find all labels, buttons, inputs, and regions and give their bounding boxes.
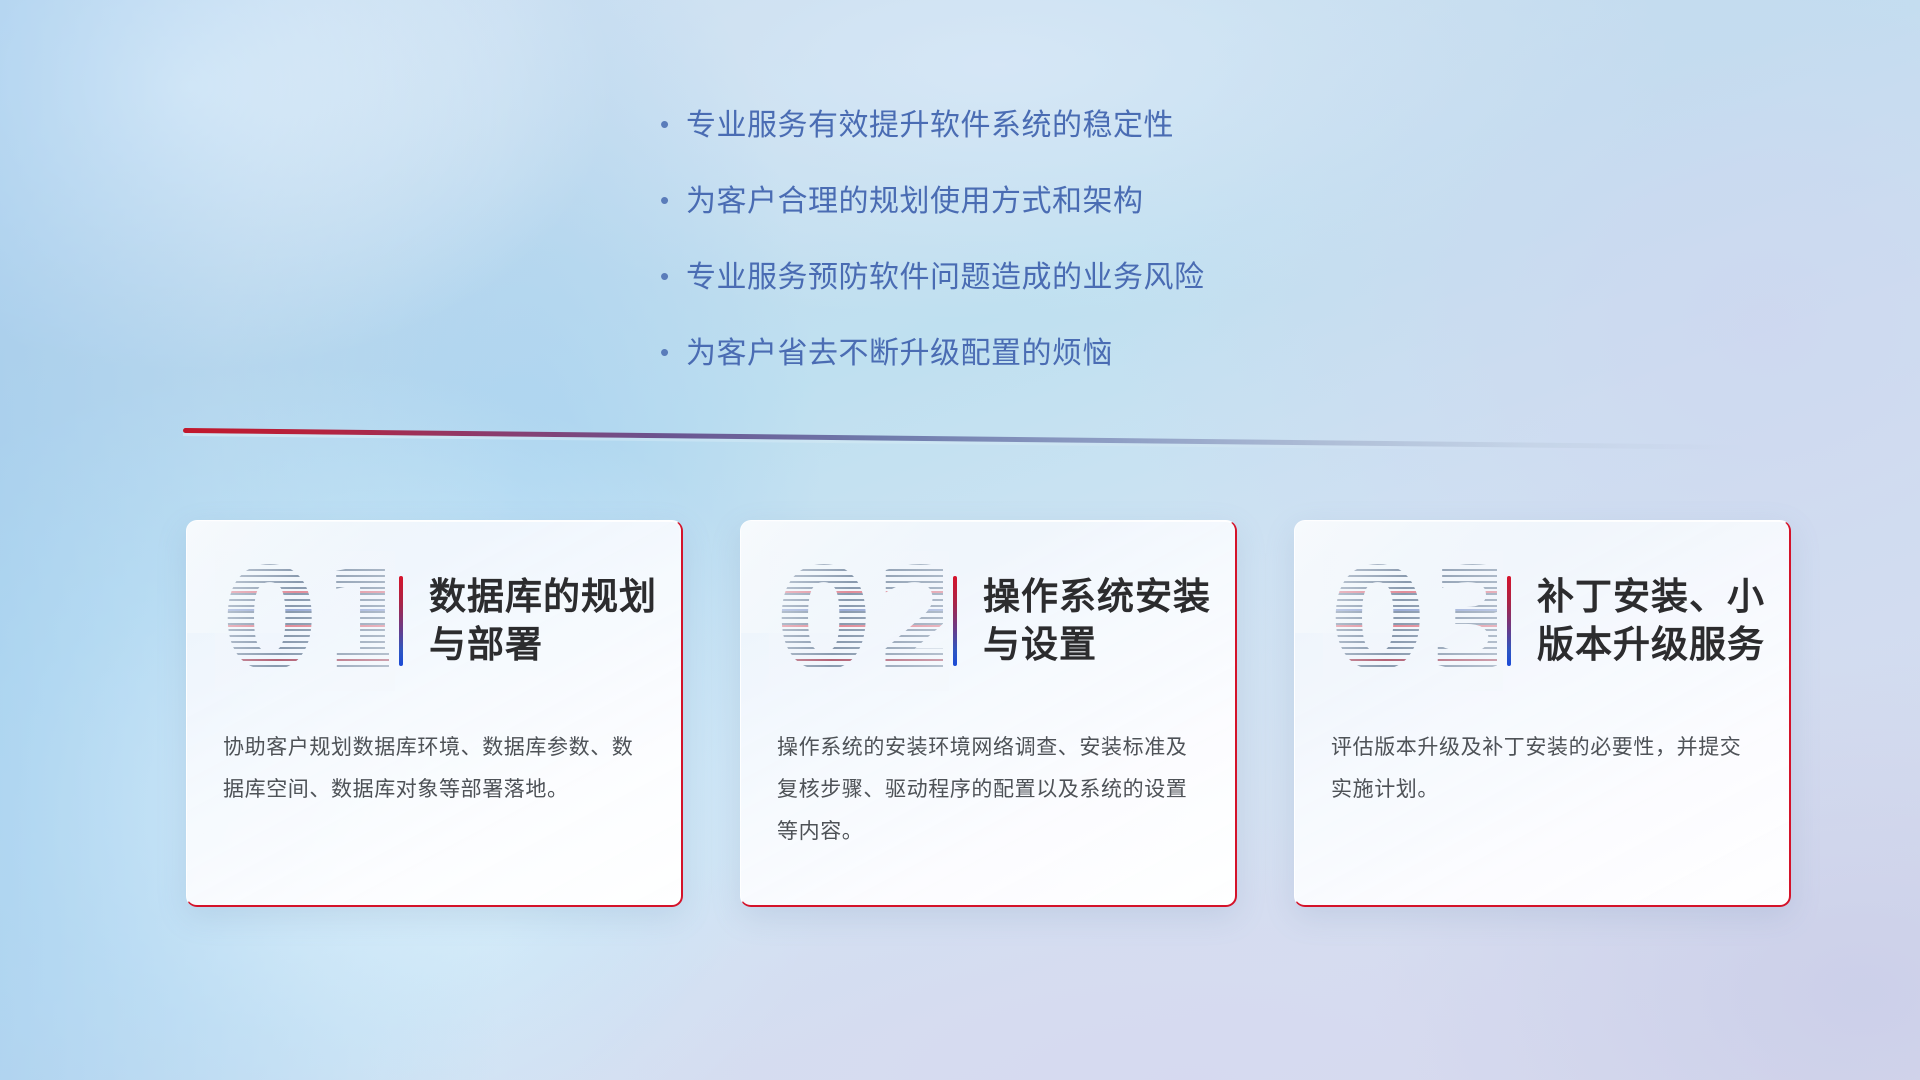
- card-header: 03 03 补丁安装、小版本升级服务: [1295, 521, 1789, 721]
- list-item: • 专业服务预防软件问题造成的业务风险: [660, 252, 1205, 296]
- card-description: 操作系统的安装环境网络调查、安装标准及复核步骤、驱动程序的配置以及系统的设置等内…: [741, 727, 1235, 853]
- card-number-watermark: 03 03: [1329, 557, 1497, 685]
- bullet-dot-icon: •: [660, 187, 686, 213]
- service-card-03[interactable]: 03 03 补丁安装、小版本升级服务 评估版本升级及补丁安装的必要性，并提交实施…: [1294, 520, 1791, 907]
- card-description: 评估版本升级及补丁安装的必要性，并提交实施计划。: [1295, 727, 1789, 811]
- card-number-tint: 03: [1329, 557, 1497, 685]
- benefits-bullet-list: • 专业服务有效提升软件系统的稳定性 • 为客户合理的规划使用方式和架构 • 专…: [660, 100, 1205, 372]
- card-number-tint: 02: [775, 557, 943, 685]
- bullet-text: 专业服务有效提升软件系统的稳定性: [686, 100, 1174, 144]
- bullet-dot-icon: •: [660, 339, 686, 365]
- bullet-dot-icon: •: [660, 111, 686, 137]
- card-number-watermark: 01 01: [221, 557, 389, 685]
- bullet-text: 专业服务预防软件问题造成的业务风险: [686, 252, 1205, 296]
- list-item: • 为客户合理的规划使用方式和架构: [660, 176, 1205, 220]
- card-title: 补丁安装、小版本升级服务: [1537, 573, 1789, 669]
- bullet-text: 为客户省去不断升级配置的烦恼: [686, 328, 1113, 372]
- card-number-watermark: 02 02: [775, 557, 943, 685]
- service-card-02[interactable]: 02 02 操作系统安装与设置 操作系统的安装环境网络调查、安装标准及复核步骤、…: [740, 520, 1237, 907]
- list-item: • 专业服务有效提升软件系统的稳定性: [660, 100, 1205, 144]
- bullet-text: 为客户合理的规划使用方式和架构: [686, 176, 1144, 220]
- bullet-dot-icon: •: [660, 263, 686, 289]
- service-card-list: 01 01 数据库的规划与部署 协助客户规划数据库环境、数据库参数、数据库空间、…: [186, 520, 1791, 907]
- card-title: 数据库的规划与部署: [429, 573, 681, 669]
- card-header: 01 01 数据库的规划与部署: [187, 521, 681, 721]
- card-header: 02 02 操作系统安装与设置: [741, 521, 1235, 721]
- card-title: 操作系统安装与设置: [983, 573, 1235, 669]
- list-item: • 为客户省去不断升级配置的烦恼: [660, 328, 1205, 372]
- service-card-01[interactable]: 01 01 数据库的规划与部署 协助客户规划数据库环境、数据库参数、数据库空间、…: [186, 520, 683, 907]
- card-description: 协助客户规划数据库环境、数据库参数、数据库空间、数据库对象等部署落地。: [187, 727, 681, 811]
- card-number-tint: 01: [221, 557, 389, 685]
